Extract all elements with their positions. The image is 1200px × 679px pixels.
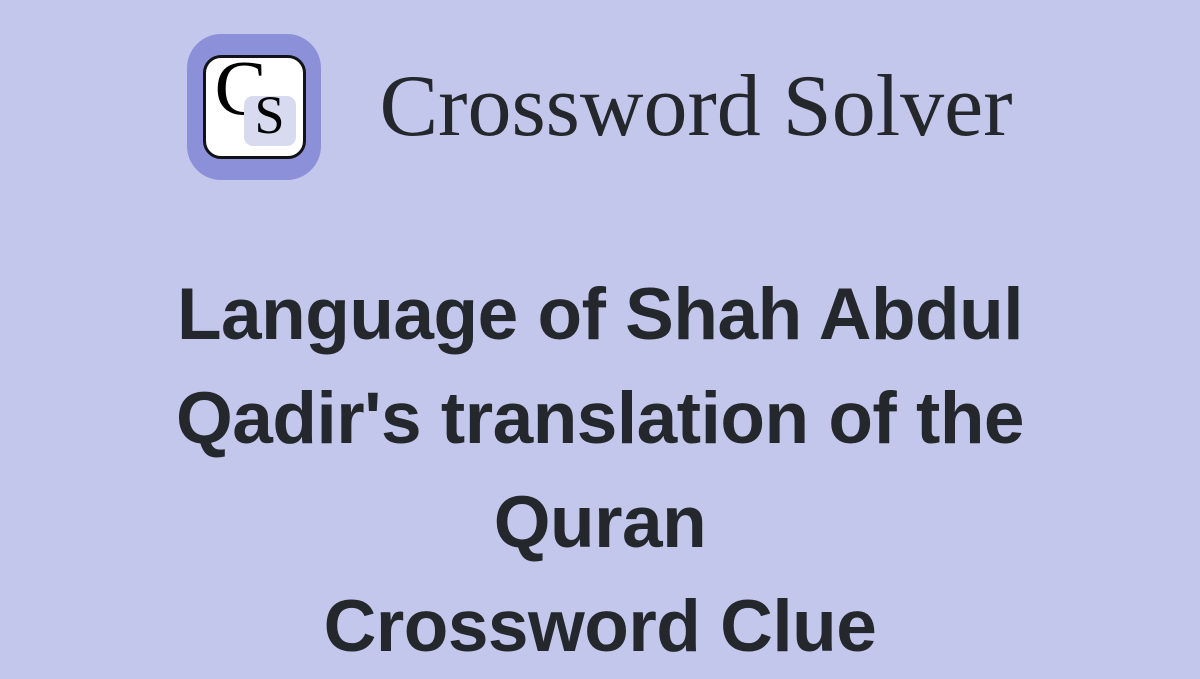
logo-letter-tile: C S — [203, 55, 306, 159]
logo-sub-tile: S — [244, 96, 296, 146]
crossword-solver-logo-icon[interactable]: C S — [187, 34, 321, 180]
clue-question-text: Language of Shah Abdul Qadir's translati… — [176, 274, 1024, 563]
logo-letter-s: S — [254, 88, 284, 142]
clue-suffix-text: Crossword Clue — [125, 575, 1075, 679]
site-header: C S Crossword Solver — [0, 22, 1200, 192]
page-root: C S Crossword Solver Language of Shah Ab… — [0, 0, 1200, 670]
page-title: Language of Shah Abdul Qadir's translati… — [125, 263, 1075, 679]
site-title[interactable]: Crossword Solver — [379, 63, 1012, 151]
